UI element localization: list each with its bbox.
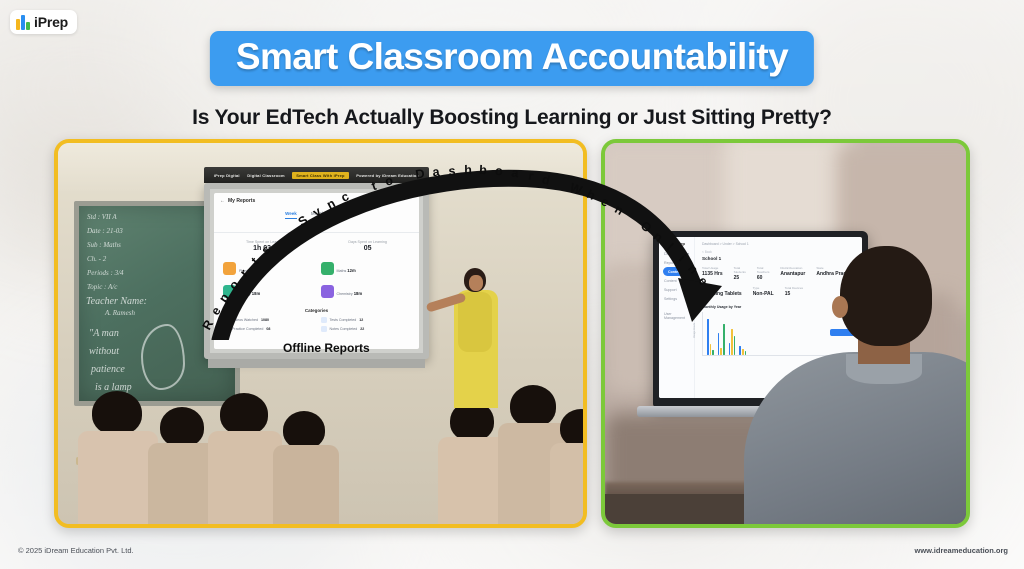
- iprep-logo[interactable]: iPrep: [10, 10, 77, 34]
- category-value: 22: [360, 327, 364, 331]
- bezel-tag: Digital Classroom: [247, 173, 284, 178]
- chart-bar: [720, 348, 722, 355]
- chalk-line: A. Ramesh: [105, 309, 135, 317]
- category-value: 1080: [261, 318, 269, 322]
- subject-name: Biology: [239, 292, 251, 296]
- arc-label-char: s: [448, 163, 456, 177]
- copyright-text: © 2025 iDream Education Pvt. Ltd.: [18, 546, 134, 555]
- offline-reports-label: Offline Reports: [283, 341, 370, 355]
- category-label: Tests Completed: [330, 318, 357, 322]
- chart-bar: [731, 329, 733, 354]
- sidebar-item-support[interactable]: Support ▾: [659, 285, 694, 294]
- chalk-line: Teacher Name:: [86, 296, 147, 307]
- category-value: 08: [266, 327, 270, 331]
- video-icon: [223, 317, 229, 323]
- chemistry-icon: [321, 285, 334, 298]
- subject-time: 18m: [252, 291, 260, 296]
- chevron-down-icon: ▾: [687, 279, 689, 283]
- bezel-tag: Smart Class With iPrep: [292, 172, 348, 179]
- chart-bar-group: [718, 324, 725, 354]
- category-value: 12: [359, 318, 363, 322]
- category-item[interactable]: Tests Completed 12: [321, 317, 411, 323]
- kpi-value: 05: [348, 245, 387, 252]
- maths-icon: [321, 262, 334, 275]
- sidebar-label: Content: [668, 270, 682, 274]
- arc-label-char: o: [495, 164, 504, 179]
- category-label: Notes Completed: [330, 327, 358, 331]
- category-label: Practice Completed: [232, 327, 263, 331]
- page-title: Smart Classroom Accountability: [236, 38, 788, 77]
- tab-year[interactable]: Year: [338, 211, 348, 219]
- arc-label-char: b: [479, 163, 487, 177]
- sidebar-item-user-management[interactable]: User Management: [659, 309, 694, 322]
- sidebar-item-content[interactable]: Content ▾: [659, 276, 694, 285]
- chart-bar: [718, 333, 720, 355]
- back-arrow-icon[interactable]: ←: [220, 198, 225, 204]
- subject-row[interactable]: Maths 12m: [321, 259, 411, 277]
- subject-time: 15m: [252, 268, 260, 273]
- chalk-line: Std : VII A: [87, 213, 117, 221]
- arc-label-char: h: [464, 163, 472, 177]
- subject-row[interactable]: Physics 15m: [223, 259, 313, 277]
- smartboard-bezel: iPrep Digital Digital Classroom Smart Cl…: [204, 167, 429, 183]
- website-url: www.idreameducation.org: [915, 546, 1009, 555]
- kpi-days-spent: Days Spent on Learning 05: [348, 240, 387, 252]
- chart-bar: [707, 319, 709, 354]
- chart-bar-group: [707, 319, 714, 354]
- category-item[interactable]: Notes Completed 22: [321, 326, 411, 332]
- chalk-line: Ch. - 2: [87, 255, 106, 263]
- iprep-logo-icon: [16, 15, 30, 30]
- chart-y-axis-label: Usage Hours: [693, 323, 696, 338]
- category-item[interactable]: Practice Completed 08: [223, 326, 313, 332]
- chart-bar: [712, 350, 714, 354]
- title-banner: Smart Classroom Accountability: [210, 31, 814, 86]
- category-label: Videos Watched: [232, 318, 258, 322]
- chart-bar: [710, 344, 712, 354]
- sidebar-item-settings[interactable]: Settings ▾: [659, 294, 694, 303]
- iprep-logo-text: iPrep: [34, 14, 68, 30]
- period-selector[interactable]: This Week: [214, 223, 419, 233]
- subject-name: Maths: [337, 269, 347, 273]
- kpi-label: Days Spent on Learning: [348, 240, 387, 244]
- test-icon: [321, 317, 327, 323]
- dashboard-logo-text: iPrep: [675, 241, 685, 246]
- sidebar-label: User Management: [664, 312, 689, 320]
- chevron-down-icon: ▾: [687, 288, 689, 292]
- notes-icon: [321, 326, 327, 332]
- students-group: [58, 349, 583, 524]
- category-item[interactable]: Videos Watched 1080: [223, 317, 313, 323]
- arc-label-char: a: [432, 165, 440, 180]
- reports-kpis: Time Spent on Learning 1h 03m Days Spent…: [214, 240, 419, 252]
- chalk-line: Date : 21-03: [87, 227, 123, 235]
- sidebar-label: Support: [664, 288, 677, 292]
- sidebar-label: Content: [664, 279, 677, 283]
- sidebar-label: Settings: [664, 297, 677, 301]
- subject-time: 18m: [354, 291, 362, 296]
- categories-list: Videos Watched 1080 Tests Completed 12 P…: [214, 313, 419, 332]
- reports-title: My Reports: [228, 198, 255, 204]
- bezel-tag: iPrep Digital: [214, 173, 240, 178]
- stat-label: Total Usage: [702, 266, 723, 270]
- subject-name: Chemistry: [337, 292, 353, 296]
- chevron-down-icon: ▾: [687, 261, 689, 265]
- practice-icon: [223, 326, 229, 332]
- dashboard-online-panel: iPrep Dashboard ▾ Reports ▾ Content ▾ Co…: [601, 139, 970, 528]
- classroom-offline-panel: Std : VII A Date : 21-03 Sub : Maths Ch.…: [54, 139, 587, 528]
- chevron-down-icon: ▾: [687, 297, 689, 301]
- chalk-line: Sub : Maths: [87, 241, 121, 249]
- physics-icon: [223, 262, 236, 275]
- teacher-figure: [450, 268, 502, 408]
- chart-bar: [729, 343, 731, 355]
- person-viewing-dashboard: [734, 234, 970, 528]
- subject-time: 12m: [347, 268, 355, 273]
- subject-row[interactable]: Chemistry 18m: [321, 282, 411, 300]
- page-subtitle: Is Your EdTech Actually Boosting Learnin…: [0, 106, 1024, 130]
- chalk-line: Topic : A/c: [87, 283, 117, 291]
- chalk-quote-line: "A man: [89, 328, 119, 339]
- chart-bar: [723, 324, 725, 354]
- chalk-line: Periods : 3/4: [87, 269, 124, 277]
